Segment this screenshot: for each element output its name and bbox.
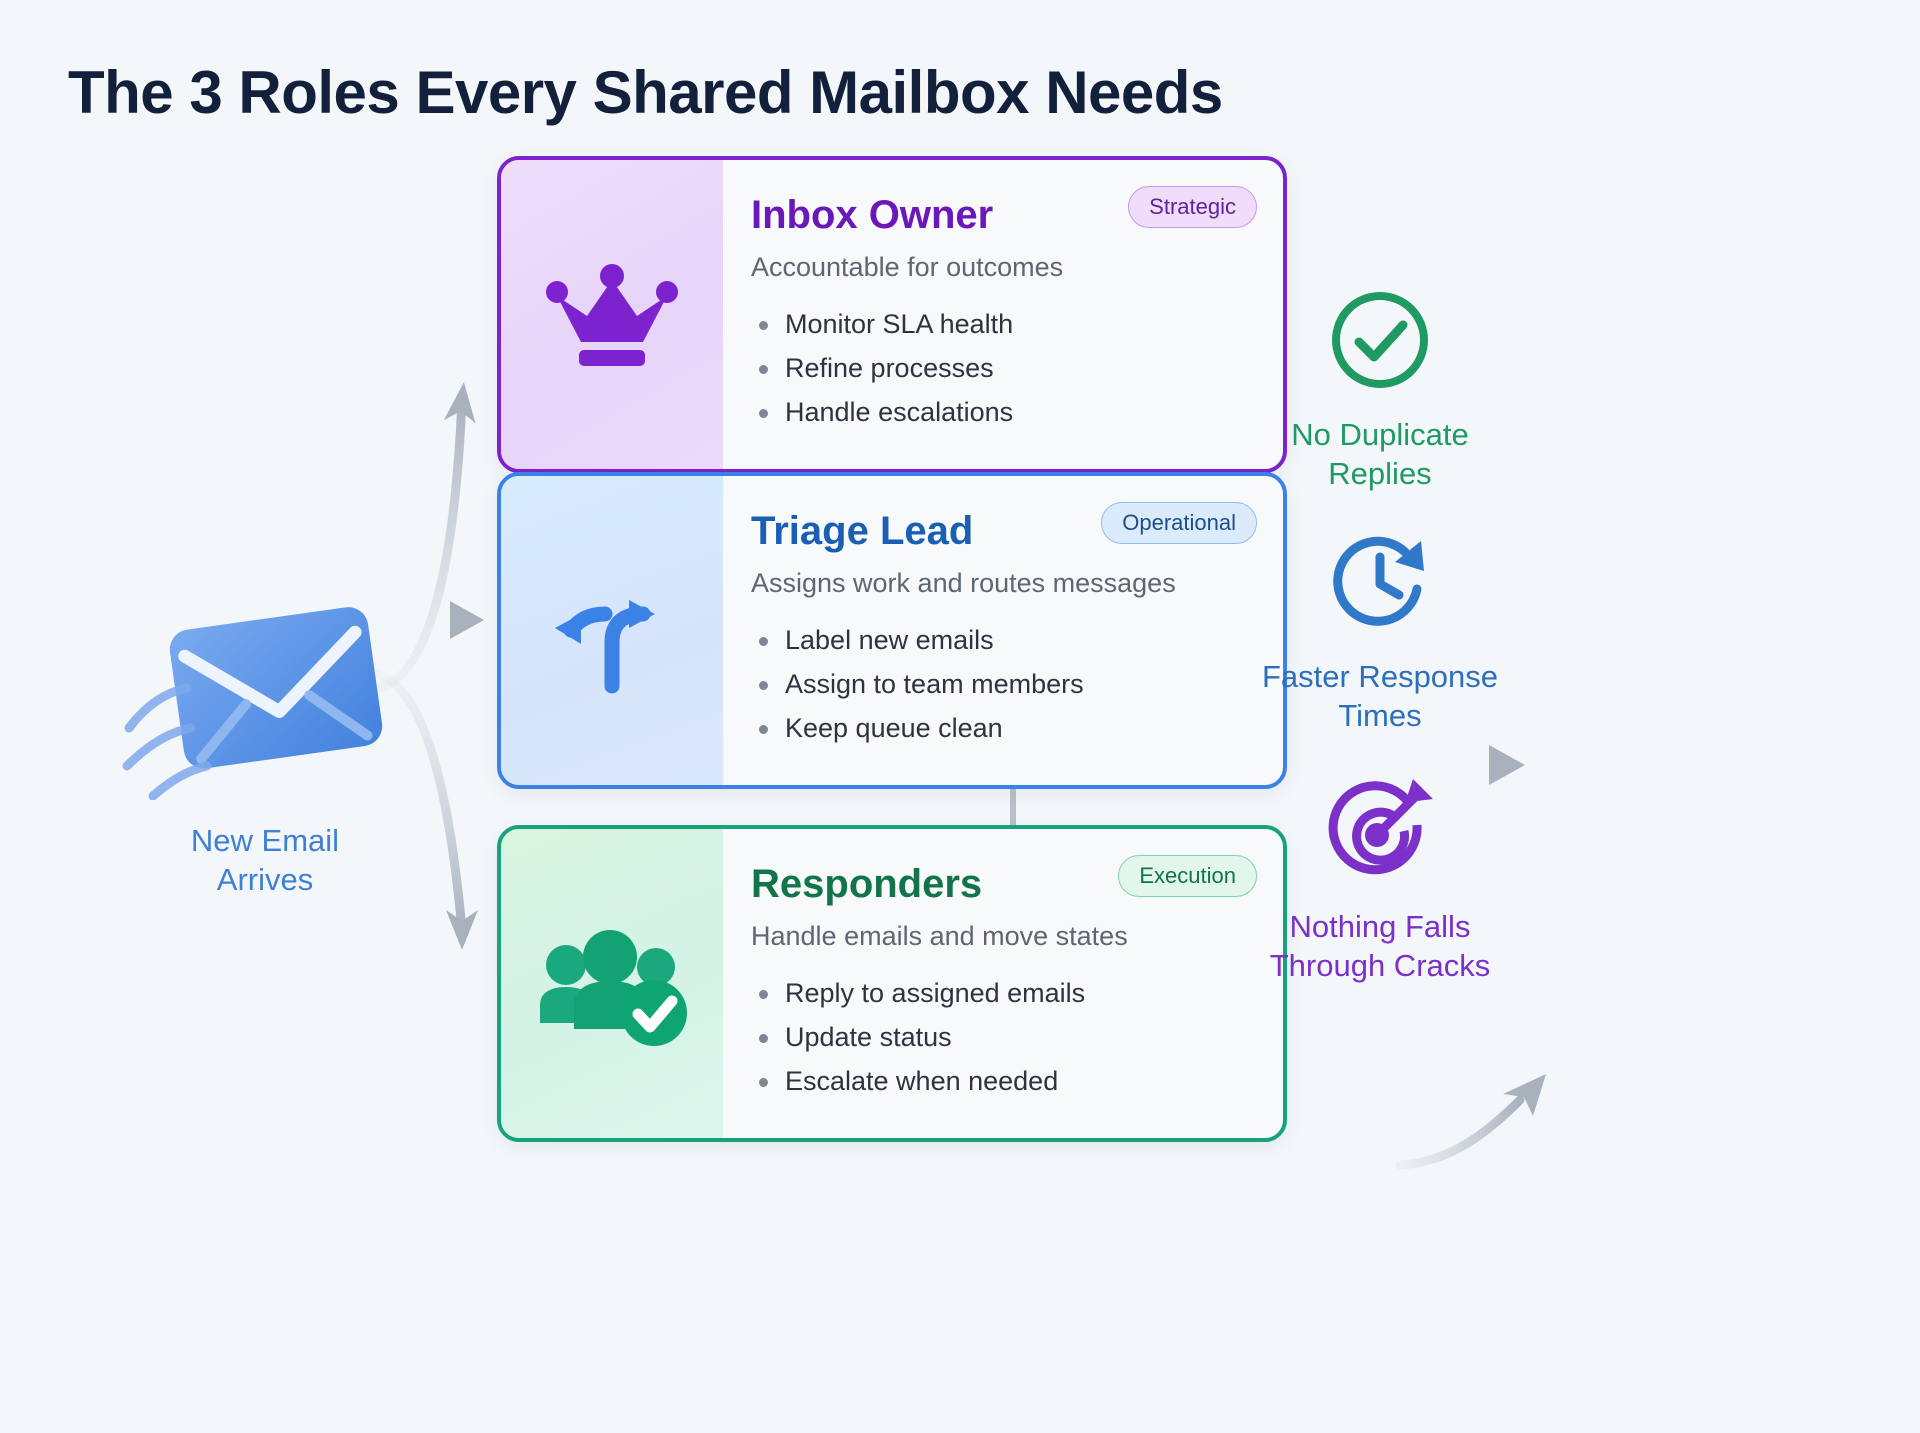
outcome-faster-response-times: Faster Response Times	[1215, 522, 1545, 736]
card-subtitle: Handle emails and move states	[751, 919, 1181, 954]
card-subtitle: Assigns work and routes messages	[751, 566, 1181, 601]
email-source-label: New Email Arrives	[115, 822, 415, 900]
check-circle-icon	[1215, 280, 1545, 400]
card-bullet-list: Label new emails Assign to team members …	[751, 623, 1249, 746]
card-icon-pane	[501, 160, 723, 469]
target-arrow-icon	[1215, 772, 1545, 892]
status-badge: Strategic	[1128, 186, 1257, 228]
clock-arrow-icon	[1215, 522, 1545, 642]
list-item: Monitor SLA health	[751, 307, 1249, 342]
crown-icon	[537, 250, 687, 380]
list-item: Keep queue clean	[751, 711, 1249, 746]
card-bullet-list: Monitor SLA health Refine processes Hand…	[751, 307, 1249, 430]
email-source: New Email Arrives	[115, 600, 415, 900]
list-item: Reply to assigned emails	[751, 976, 1249, 1011]
list-item: Label new emails	[751, 623, 1249, 658]
role-card-responders[interactable]: Execution Responders Handle emails and m…	[497, 825, 1287, 1142]
outcome-nothing-falls-through-cracks: Nothing Falls Through Cracks	[1215, 772, 1545, 986]
card-body: Execution Responders Handle emails and m…	[723, 829, 1283, 1138]
role-card-inbox-owner[interactable]: Strategic Inbox Owner Accountable for ou…	[497, 156, 1287, 473]
outcome-label: No Duplicate Replies	[1215, 416, 1545, 494]
envelope-icon	[115, 600, 415, 800]
list-item: Handle escalations	[751, 395, 1249, 430]
outcome-label: Faster Response Times	[1215, 658, 1545, 736]
outcome-no-duplicate-replies: No Duplicate Replies	[1215, 280, 1545, 494]
list-item: Escalate when needed	[751, 1064, 1249, 1099]
card-bullet-list: Reply to assigned emails Update status E…	[751, 976, 1249, 1099]
list-item: Refine processes	[751, 351, 1249, 386]
infographic-canvas: The 3 Roles Every Shared Mailbox Needs	[0, 0, 1920, 1433]
arrow-responders-to-outcome	[1400, 1074, 1546, 1165]
card-icon-pane	[501, 829, 723, 1138]
list-item: Update status	[751, 1020, 1249, 1055]
card-body: Strategic Inbox Owner Accountable for ou…	[723, 160, 1283, 469]
users-check-icon	[532, 919, 692, 1049]
page-title: The 3 Roles Every Shared Mailbox Needs	[68, 58, 1223, 127]
role-card-triage-lead[interactable]: Operational Triage Lead Assigns work and…	[497, 472, 1287, 789]
card-body: Operational Triage Lead Assigns work and…	[723, 476, 1283, 785]
card-icon-pane	[501, 476, 723, 785]
split-arrows-icon	[537, 556, 687, 706]
list-item: Assign to team members	[751, 667, 1249, 702]
card-subtitle: Accountable for outcomes	[751, 250, 1181, 285]
outcome-label: Nothing Falls Through Cracks	[1215, 908, 1545, 986]
